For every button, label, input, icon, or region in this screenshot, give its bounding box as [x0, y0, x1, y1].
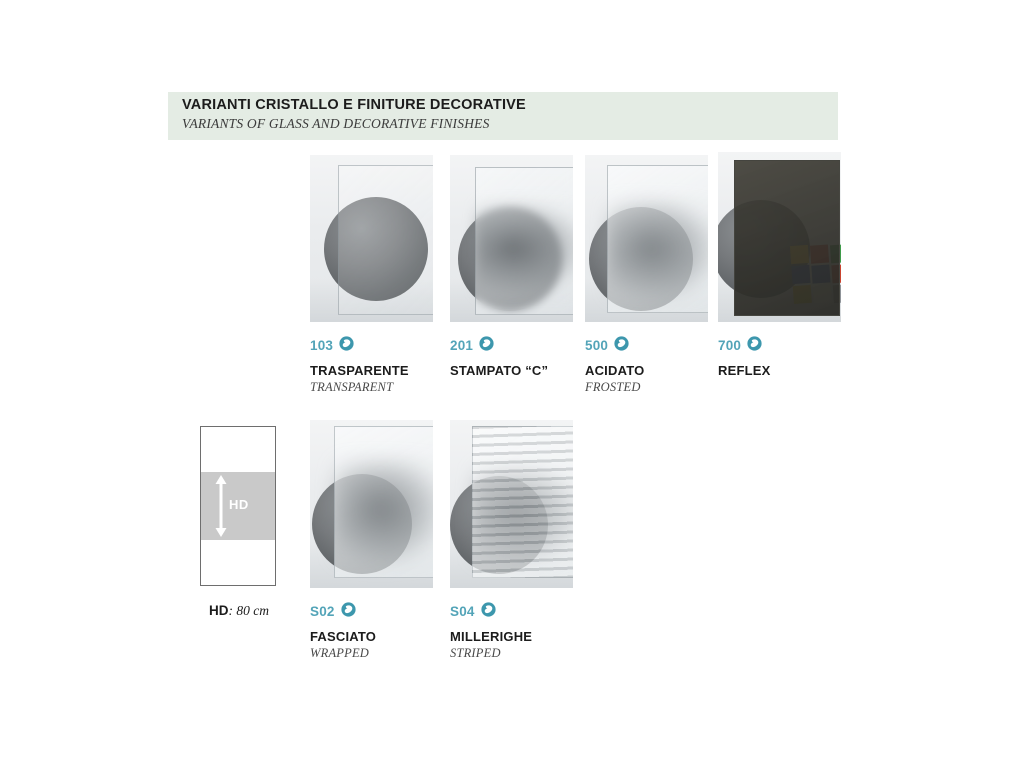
glass-pane-transparent — [338, 165, 433, 315]
variant-name-en: STRIPED — [450, 646, 640, 661]
variant-label-S04: S04 MILLERIGHE STRIPED — [450, 603, 640, 661]
glass-pane-reflex — [734, 160, 840, 316]
glass-swatch-icon — [479, 336, 494, 356]
glass-variant-row-2: S02 FASCIATO WRAPPED S04 — [0, 420, 1024, 680]
variant-name-en: TRANSPARENT — [310, 380, 500, 395]
variant-card-201[interactable]: 201 STAMPATO “C” — [450, 155, 573, 322]
variant-thumbnail-printed-c[interactable] — [450, 155, 573, 322]
variant-thumbnail-frosted[interactable] — [585, 155, 708, 322]
variant-card-103[interactable]: 103 TRASPARENTE TRANSPARENT — [310, 155, 433, 322]
page-subtitle: VARIANTS OF GLASS AND DECORATIVE FINISHE… — [182, 116, 490, 132]
blurred-sphere-through-glass — [334, 460, 433, 564]
variant-card-700[interactable]: 700 REFLEX — [718, 152, 841, 322]
variant-name: MILLERIGHE — [450, 629, 640, 644]
variant-card-S04[interactable]: S04 MILLERIGHE STRIPED — [450, 420, 573, 588]
glass-swatch-icon — [481, 602, 496, 622]
variant-card-S02[interactable]: S02 FASCIATO WRAPPED — [310, 420, 433, 588]
variant-label-700: 700 REFLEX — [718, 337, 908, 378]
glass-swatch-icon — [614, 336, 629, 356]
variant-thumbnail-reflex[interactable] — [718, 152, 841, 322]
variant-code: S02 — [310, 604, 335, 619]
variant-code-line: 700 — [718, 337, 908, 354]
variant-thumbnail-striped[interactable] — [450, 420, 573, 588]
glass-variant-row-1: 103 TRASPARENTE TRANSPARENT 201 — [0, 155, 1024, 415]
page-title: VARIANTI CRISTALLO E FINITURE DECORATIVE — [182, 97, 526, 113]
variant-code: 103 — [310, 338, 333, 353]
stripe-pattern — [472, 426, 573, 578]
blurred-sphere-through-glass — [475, 201, 573, 297]
glass-swatch-icon — [339, 336, 354, 356]
variant-code: S04 — [450, 604, 475, 619]
glass-swatch-icon — [747, 336, 762, 356]
variant-card-500[interactable]: 500 ACIDATO FROSTED — [585, 155, 708, 322]
variant-code-line: S04 — [450, 603, 640, 620]
glass-swatch-icon — [341, 602, 356, 622]
blurred-sphere-through-glass — [607, 199, 708, 299]
section-header-band: VARIANTI CRISTALLO E FINITURE DECORATIVE… — [168, 92, 838, 140]
variant-code: 500 — [585, 338, 608, 353]
variant-name-en: FROSTED — [585, 380, 775, 395]
variant-name: REFLEX — [718, 363, 908, 378]
variant-thumbnail-transparent[interactable] — [310, 155, 433, 322]
variant-code: 700 — [718, 338, 741, 353]
variant-code: 201 — [450, 338, 473, 353]
variant-thumbnail-wrapped[interactable] — [310, 420, 433, 588]
